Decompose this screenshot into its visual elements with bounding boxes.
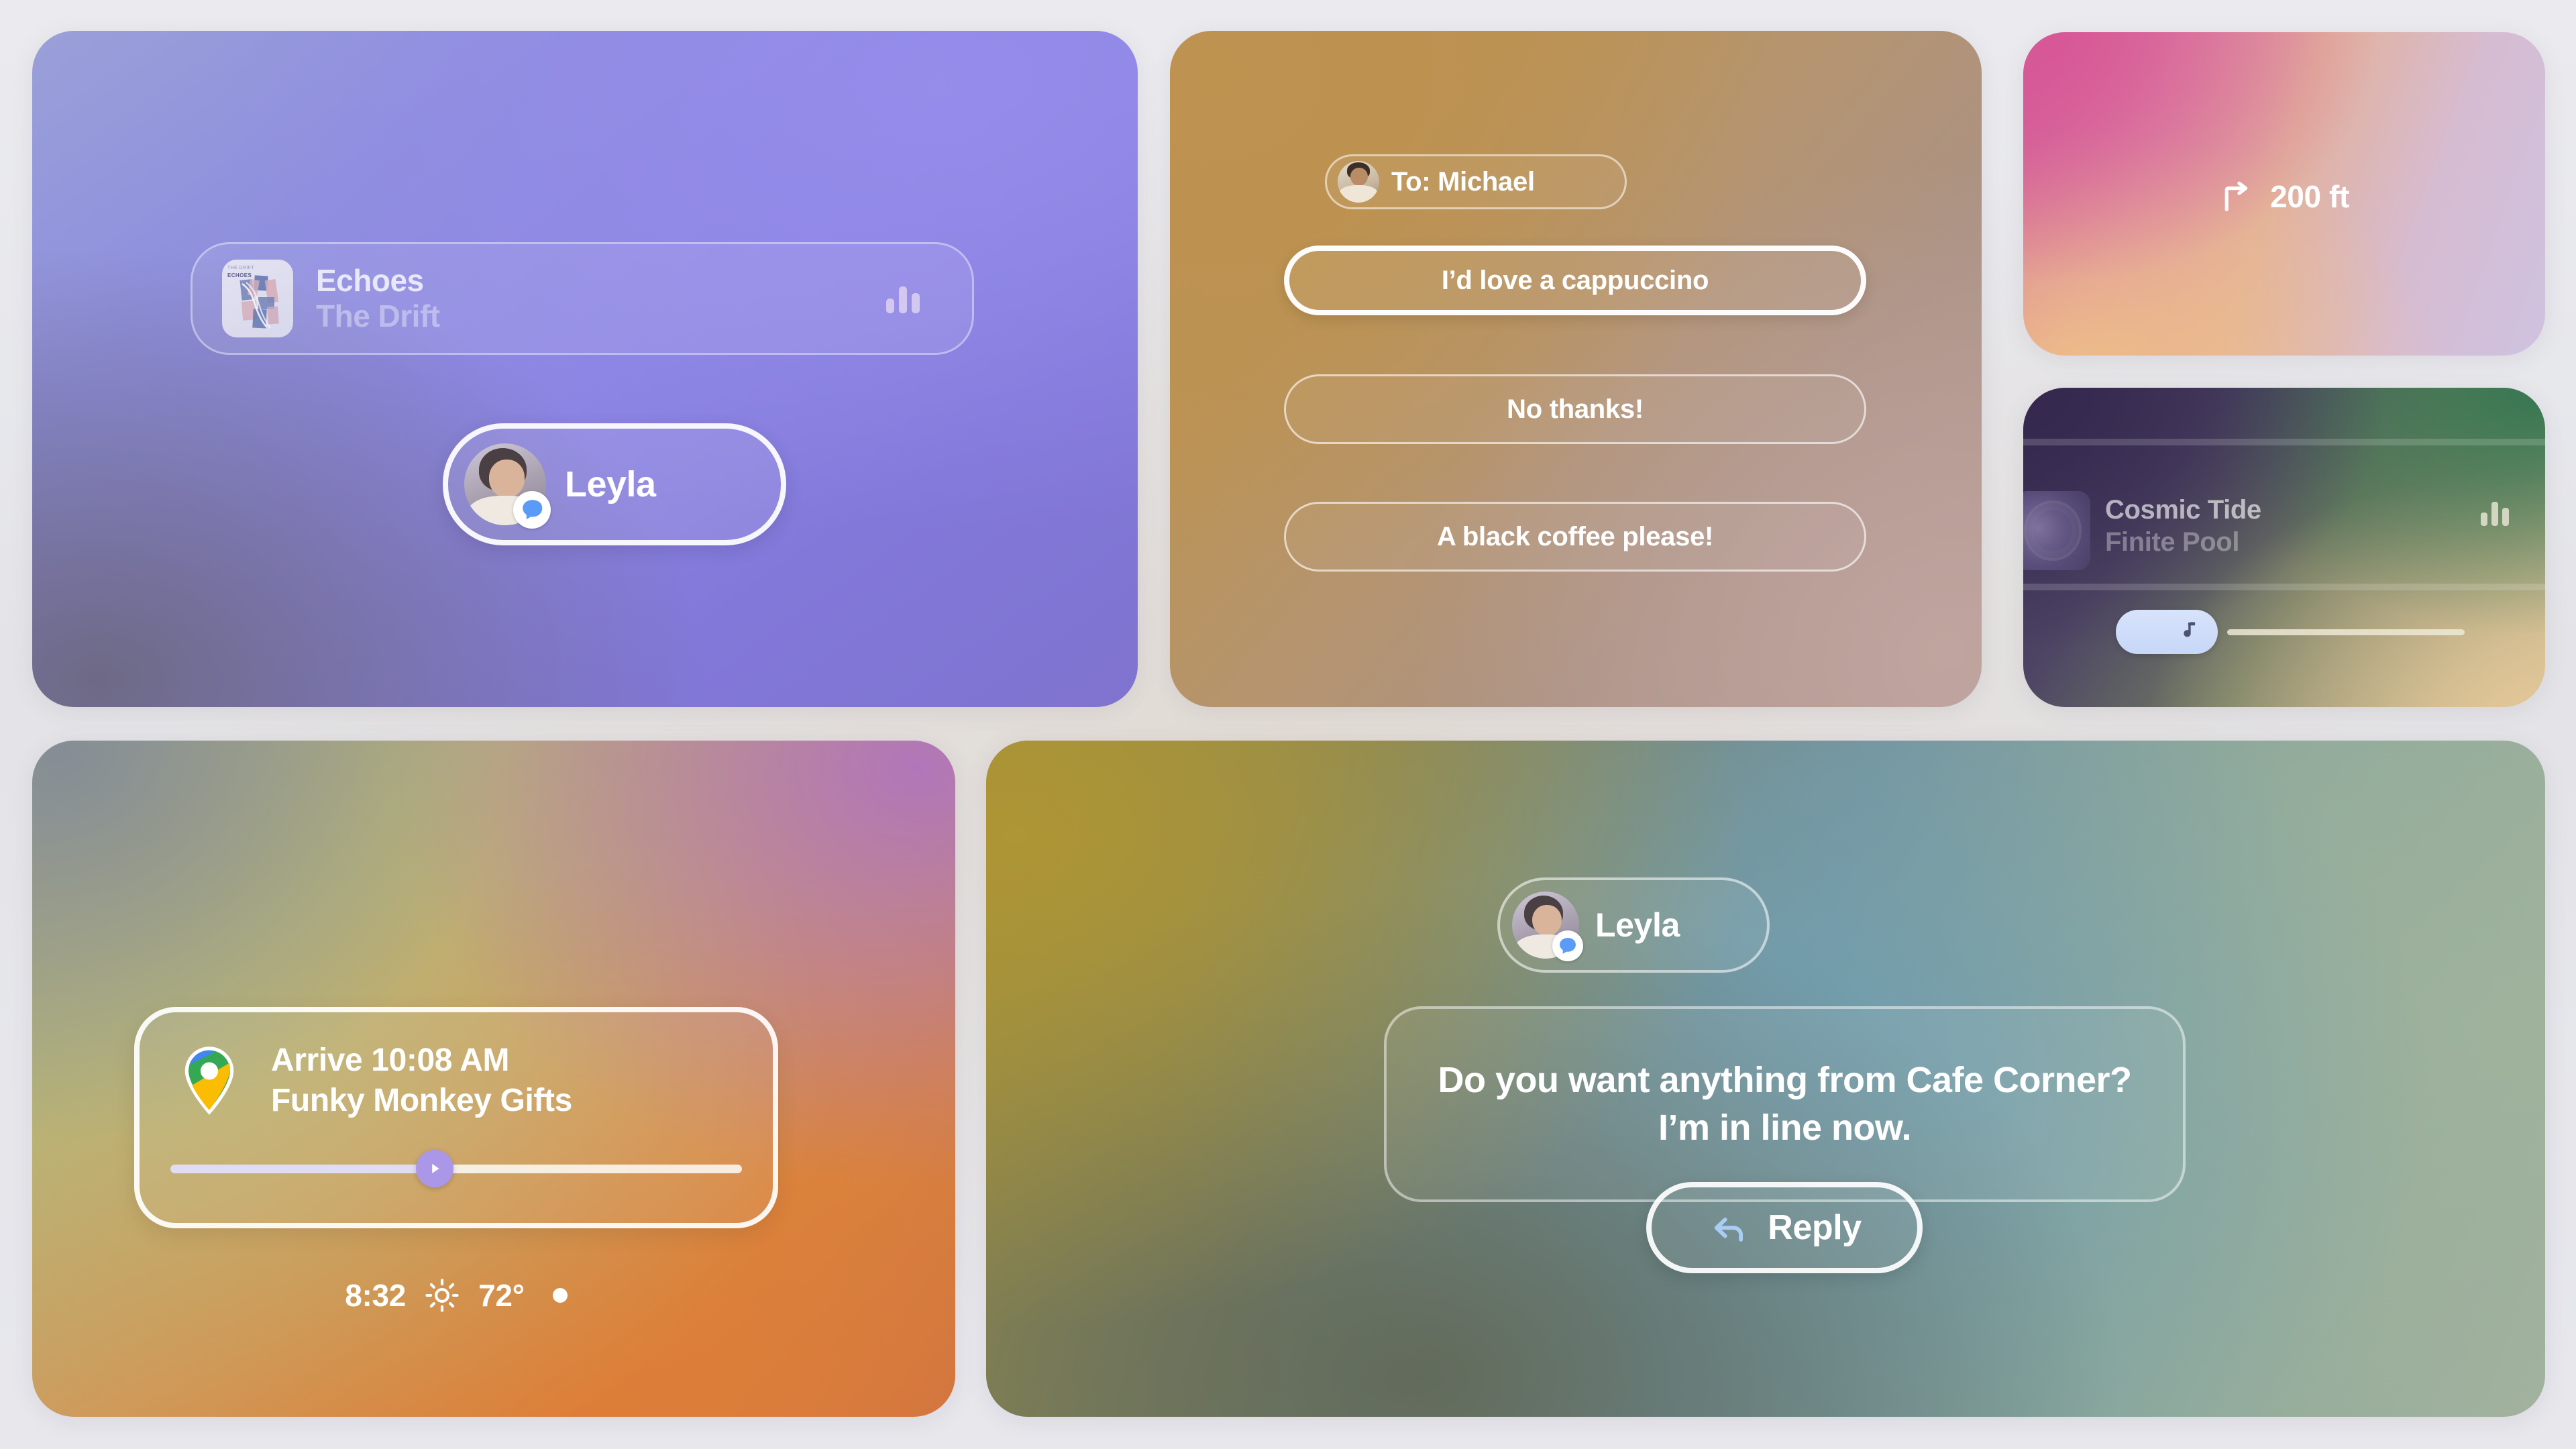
play-triangle-icon[interactable] xyxy=(416,1150,453,1187)
messages-app-icon xyxy=(1552,930,1583,961)
card-cosmic-tide[interactable]: Cosmic Tide Finite Pool xyxy=(2023,388,2545,707)
route-progress-bar[interactable] xyxy=(170,1157,742,1180)
reply-option-1[interactable]: No thanks! xyxy=(1284,374,1866,444)
equalizer-icon xyxy=(886,284,920,313)
navigation-maneuver: 200 ft xyxy=(2023,178,2545,215)
progress-elapsed xyxy=(170,1165,433,1173)
divider-bottom xyxy=(2023,584,2545,590)
contact-leyla-pill[interactable]: Leyla xyxy=(443,423,786,545)
sun-icon xyxy=(425,1278,460,1313)
track-title: Echoes xyxy=(316,264,440,297)
card-incoming-message[interactable]: Leyla Do you want anything from Cafe Cor… xyxy=(986,741,2545,1417)
arrival-time: Arrive 10:08 AM xyxy=(271,1042,572,1079)
message-sender-name: Leyla xyxy=(1595,906,1680,945)
maps-widget[interactable]: Arrive 10:08 AM Funky Monkey Gifts xyxy=(134,1007,778,1228)
cosmic-now-playing-text: Cosmic Tide Finite Pool xyxy=(2105,495,2261,557)
avatar-leyla xyxy=(464,443,546,525)
messages-app-icon xyxy=(513,491,551,529)
maps-text: Arrive 10:08 AM Funky Monkey Gifts xyxy=(271,1042,572,1119)
recipient-pill[interactable]: To: Michael xyxy=(1325,154,1627,209)
cosmic-slider[interactable] xyxy=(2116,609,2465,655)
message-sender-pill[interactable]: Leyla xyxy=(1497,877,1770,973)
status-temperature: 72° xyxy=(478,1277,525,1313)
message-bubble: Do you want anything from Cafe Corner? I… xyxy=(1384,1006,2186,1202)
status-time: 8:32 xyxy=(345,1277,406,1313)
album-art-cosmic-tide xyxy=(2023,491,2090,570)
destination-name: Funky Monkey Gifts xyxy=(271,1083,572,1119)
dot-icon xyxy=(553,1288,568,1303)
contact-name: Leyla xyxy=(565,464,656,505)
navigation-distance: 200 ft xyxy=(2270,178,2349,215)
cosmic-track-title: Cosmic Tide xyxy=(2105,495,2261,525)
message-body: Do you want anything from Cafe Corner? I… xyxy=(1417,1057,2152,1152)
card-navigation-eta[interactable]: Arrive 10:08 AM Funky Monkey Gifts 8:32 xyxy=(32,741,955,1417)
reply-option-0[interactable]: I’d love a cappuccino xyxy=(1284,246,1866,315)
widget-grid: THE DRIFT ECHOES Echoes xyxy=(0,0,2576,1449)
reply-arrow-icon xyxy=(1707,1206,1750,1249)
reply-option-2[interactable]: A black coffee please! xyxy=(1284,502,1866,572)
equalizer-icon xyxy=(2481,500,2509,526)
avatar-michael xyxy=(1338,161,1379,203)
avatar-leyla xyxy=(1512,892,1579,959)
status-strip: 8:32 72° xyxy=(134,1277,778,1313)
card-now-playing[interactable]: THE DRIFT ECHOES Echoes xyxy=(32,31,1138,707)
recipient-label: To: Michael xyxy=(1391,167,1535,197)
divider-top xyxy=(2023,439,2545,445)
album-art-graphic xyxy=(222,260,293,337)
music-note-icon xyxy=(2173,617,2200,647)
track-artist: The Drift xyxy=(316,300,440,333)
maps-header: Arrive 10:08 AM Funky Monkey Gifts xyxy=(140,1012,773,1120)
turn-right-icon xyxy=(2219,178,2255,215)
reply-button-label: Reply xyxy=(1768,1207,1862,1248)
album-art-echoes: THE DRIFT ECHOES xyxy=(222,260,293,337)
reply-button[interactable]: Reply xyxy=(1646,1182,1923,1273)
progress-remaining xyxy=(433,1165,742,1173)
card-navigation[interactable]: 200 ft xyxy=(2023,32,2545,356)
cosmic-slider-track[interactable] xyxy=(2227,629,2465,635)
now-playing-widget[interactable]: THE DRIFT ECHOES Echoes xyxy=(191,242,974,355)
now-playing-text: Echoes The Drift xyxy=(316,264,440,333)
card-smart-replies[interactable]: To: Michael I’d love a cappuccino No tha… xyxy=(1170,31,1982,707)
cosmic-slider-thumb[interactable] xyxy=(2116,610,2218,654)
cosmic-track-artist: Finite Pool xyxy=(2105,527,2261,557)
google-maps-pin-icon xyxy=(170,1042,248,1120)
